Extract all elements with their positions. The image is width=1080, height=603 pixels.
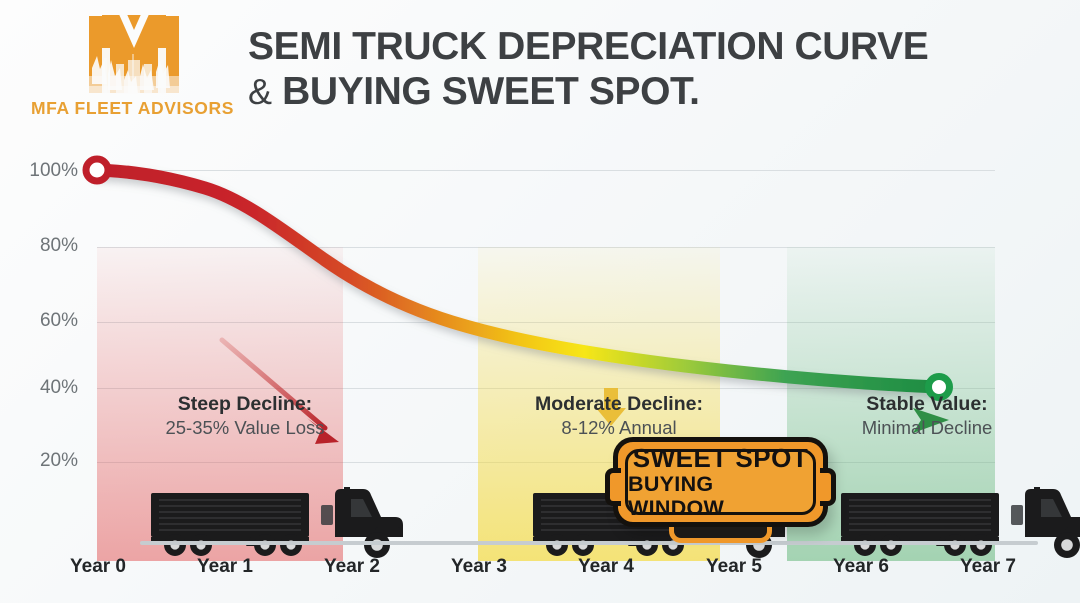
x-tick-year-0: Year 0 [38,556,158,578]
y-tick-40: 40% [18,377,78,399]
annotation-moderate-decline: Moderate Decline: 8-12% Annual [489,392,749,440]
badge-line-2: BUYING WINDOW [628,472,813,520]
x-tick-year-1: Year 1 [165,556,285,578]
title-line-2-wrapper: & BUYING SWEET SPOT. [248,69,1038,114]
badge-outer: SWEET SPOT BUYING WINDOW [613,437,828,527]
badge-line-1: SWEET SPOT [633,445,808,472]
x-tick-year-4: Year 4 [546,556,666,578]
x-tick-year-6: Year 6 [801,556,921,578]
title-line-2: BUYING SWEET SPOT. [282,70,700,113]
badge-inner: SWEET SPOT BUYING WINDOW [625,449,816,515]
page-title: SEMI TRUCK DEPRECIATION CURVE & BUYING S… [248,24,1038,114]
y-tick-60: 60% [18,310,78,332]
title-line-1: SEMI TRUCK DEPRECIATION CURVE [248,24,1038,69]
y-tick-80: 80% [18,235,78,257]
x-tick-year-3: Year 3 [419,556,539,578]
annotation-title: Stable Value: [797,392,1057,416]
logo-wordmark: MFA FLEET ADVISORS [30,98,235,119]
annotation-subtitle: 25-35% Value Loss [115,416,375,440]
y-tick-100: 100% [18,160,78,182]
x-axis: Year 0 Year 1 Year 2 Year 3 Year 4 Year … [0,552,1080,592]
x-tick-year-7: Year 7 [928,556,1048,578]
mfa-m-logo-icon [88,14,180,94]
x-tick-year-2: Year 2 [292,556,412,578]
annotation-subtitle: Minimal Decline [797,416,1057,440]
y-tick-20: 20% [18,450,78,472]
logo: MFA FLEET ADVISORS [30,14,235,126]
infographic-canvas: MFA FLEET ADVISORS SEMI TRUCK DEPRECIATI… [0,0,1080,603]
badge-notch-left [605,468,621,506]
annotation-title: Moderate Decline: [489,392,749,416]
depreciation-curve [77,150,1017,570]
curve-start-marker [86,159,108,181]
sweet-spot-badge[interactable]: SWEET SPOT BUYING WINDOW [613,437,836,535]
annotation-title: Steep Decline: [115,392,375,416]
x-axis-baseline [140,541,1038,545]
badge-notch-right [820,468,836,506]
annotation-steep-decline: Steep Decline: 25-35% Value Loss [115,392,375,440]
x-tick-year-5: Year 5 [674,556,794,578]
plot-area: Steep Decline: 25-35% Value Loss Moderat… [97,170,995,543]
annotation-stable-value: Stable Value: Minimal Decline [797,392,1057,440]
header: MFA FLEET ADVISORS SEMI TRUCK DEPRECIATI… [0,0,1080,140]
title-ampersand: & [248,71,272,112]
